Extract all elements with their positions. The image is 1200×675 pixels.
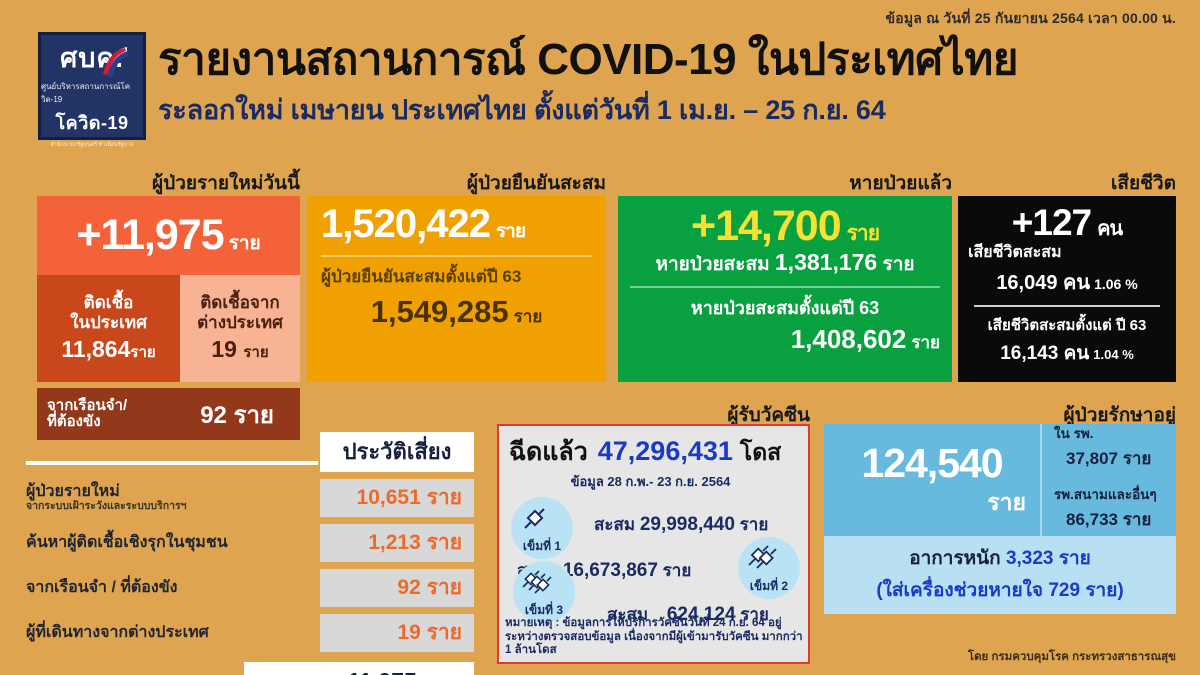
prison-label-1: จากเรือนจำ/ xyxy=(47,397,127,414)
thai-flag-icon xyxy=(103,47,129,77)
field-hospital-value: 86,733 ราย xyxy=(1066,506,1176,533)
logo-line-2: ศูนย์บริหารสถานการณ์โควิด-19 xyxy=(41,80,143,106)
vaccine-note: หมายเหตุ : ข้อมูลการให้บริการวัคซีนวันที… xyxy=(505,617,803,658)
active-cases-breakdown: ใน รพ. 37,807 ราย รพ.สนามและอื่นๆ 86,733… xyxy=(1042,424,1176,536)
table-row: ค้นหาผู้ติดเชื้อเชิงรุกในชุมชน 1,213 ราย xyxy=(26,524,474,562)
ventilator-text: (ใส่เครื่องช่วยหายใจ 729 ราย) xyxy=(836,575,1164,605)
new-cases-unit: ราย xyxy=(229,228,261,258)
cumulative-since-value: 1,549,285 xyxy=(371,294,509,329)
card-cumulative-cases: 1,520,422ราย ผู้ป่วยยืนยันสะสมตั้งแต่ปี … xyxy=(307,196,606,382)
recovered-unit: ราย xyxy=(847,222,879,245)
vaccine-total-row: ฉีดแล้ว 47,296,431 โดส xyxy=(499,426,808,472)
syringe-3-icon xyxy=(521,567,561,595)
domestic-label-2: ในประเทศ xyxy=(70,313,147,332)
severe-cases-box: อาการหนัก 3,323 ราย (ใส่เครื่องช่วยหายใจ… xyxy=(824,536,1176,614)
vaccine-dose-1-chip: เข็มที่ 1 xyxy=(511,497,573,559)
table-row: จากเรือนจำ / ที่ต้องขัง 92 ราย xyxy=(26,569,474,607)
vaccine-dose-2-label: เข็มที่ 2 xyxy=(750,577,788,596)
deaths-since-pct: 1.04 % xyxy=(1093,347,1133,362)
cumulative-value: 1,520,422 xyxy=(321,202,490,246)
in-hospital-label: ใน รพ. xyxy=(1054,422,1176,444)
logo-line-4: สำนักนายกรัฐมนตรี ทำเนียบรัฐบาล xyxy=(50,141,133,149)
active-cases-total: 124,540 ราย xyxy=(824,424,1042,536)
risk-row-sublabel: จากระบบเฝ้าระวังและระบบบริการฯ xyxy=(26,501,310,513)
vaccine-dose-2-value: 16,673,867 xyxy=(563,560,658,581)
vaccine-dose-1-value: 29,998,440 xyxy=(640,514,735,535)
vaccine-injected-label: ฉีดแล้ว xyxy=(509,432,588,472)
vaccine-dose-2-chip: เข็มที่ 2 xyxy=(738,537,800,599)
deaths-value: +127 xyxy=(1012,202,1091,243)
recovered-since-unit: ราย xyxy=(911,333,940,352)
vaccine-dose-3-chip: เข็มที่ 3 xyxy=(513,561,575,623)
severe-value: 3,323 ราย xyxy=(1006,548,1091,569)
vaccine-panel: ฉีดแล้ว 47,296,431 โดส ข้อมูล 28 ก.พ.- 2… xyxy=(497,424,810,664)
prison-value: 92 ราย xyxy=(200,395,274,434)
divider xyxy=(321,255,592,257)
vaccine-dose-2-unit: ราย xyxy=(663,561,692,580)
table-row: ผู้ที่เดินทางจากต่างประเทศ 19 ราย xyxy=(26,614,474,652)
risk-history-table: ประวัติเสี่ยง ผู้ป่วยรายใหม่ จากระบบเฝ้า… xyxy=(26,432,474,675)
vaccine-dose-list: เข็มที่ 1 สะสม 29,998,440 ราย xyxy=(499,495,808,628)
caption-deaths: เสียชีวิต xyxy=(958,168,1176,198)
deaths-since-label: เสียชีวิตสะสมตั้งแต่ ปี 63 xyxy=(968,313,1166,337)
recovered-cum-value: 1,381,176 xyxy=(775,249,877,275)
recovered-value: +14,700 xyxy=(691,202,841,250)
risk-history-total-row: รวม 11,975 ราย xyxy=(26,662,474,675)
vaccine-dose-1-row: สะสม 29,998,440 ราย xyxy=(594,511,768,538)
deaths-cum-value: 16,049 คน xyxy=(996,272,1090,294)
vaccine-dose-1-label: เข็มที่ 1 xyxy=(523,537,561,556)
data-timestamp: ข้อมูล ณ วันที่ 25 กันยายน 2564 เวลา 00.… xyxy=(885,8,1176,30)
vaccine-dose-1-unit: ราย xyxy=(740,515,769,534)
vaccine-injected-unit: โดส xyxy=(740,435,781,471)
active-cases-unit: ราย xyxy=(987,485,1026,521)
divider xyxy=(974,305,1160,307)
domestic-label-1: ติดเชื้อ xyxy=(84,293,134,312)
sbc-logo: ศบค. ศูนย์บริหารสถานการณ์โควิด-19 โควิด-… xyxy=(38,32,146,140)
domestic-cases: ติดเชื้อ ในประเทศ 11,864ราย xyxy=(37,275,180,382)
cumulative-since-unit: ราย xyxy=(514,307,543,326)
table-row: ผู้ป่วยรายใหม่ จากระบบเฝ้าระวังและระบบบร… xyxy=(26,479,474,517)
logo-line-3: โควิด-19 xyxy=(55,108,128,137)
risk-row-value: 10,651 ราย xyxy=(320,479,474,517)
syringe-2-icon xyxy=(746,543,780,571)
active-cases-panel: 124,540 ราย ใน รพ. 37,807 ราย รพ.สนามและ… xyxy=(824,424,1176,614)
field-hospital-label: รพ.สนามและอื่นๆ xyxy=(1054,483,1176,505)
deaths-since-value: 16,143 คน xyxy=(1000,343,1089,364)
risk-row-value: 92 ราย xyxy=(320,569,474,607)
risk-row-label: ผู้ป่วยรายใหม่ xyxy=(26,483,310,501)
deaths-unit: คน xyxy=(1097,218,1122,240)
new-cases-hero: +11,975 ราย xyxy=(37,196,300,275)
imported-unit: ราย xyxy=(243,344,268,361)
title-block: รายงานสถานการณ์ COVID-19 ในประเทศไทย ระล… xyxy=(158,36,1180,131)
risk-history-header-row: ประวัติเสี่ยง xyxy=(26,432,474,472)
cumulative-since-label: ผู้ป่วยยืนยันสะสมตั้งแต่ปี 63 xyxy=(321,263,592,290)
recovered-cum-label: หายป่วยสะสม xyxy=(655,254,769,275)
imported-label-1: ติดเชื้อจาก xyxy=(200,293,279,312)
credit-line: โดย กรมควบคุมโรค กระทรวงสาธารณสุข xyxy=(968,648,1176,666)
new-cases-breakdown: ติดเชื้อ ในประเทศ 11,864ราย ติดเชื้อจาก … xyxy=(37,275,300,382)
vaccine-dose-1-prefix: สะสม xyxy=(594,515,635,534)
risk-row-value: 19 ราย xyxy=(320,614,474,652)
domestic-value: 11,864 xyxy=(61,336,130,362)
domestic-unit: ราย xyxy=(130,344,155,361)
imported-value: 19 xyxy=(211,336,237,362)
card-new-cases: +11,975 ราย ติดเชื้อ ในประเทศ 11,864ราย … xyxy=(37,196,300,382)
divider xyxy=(630,286,940,288)
risk-row-label: ผู้ที่เดินทางจากต่างประเทศ xyxy=(26,624,310,642)
caption-new-cases: ผู้ป่วยรายใหม่วันนี้ xyxy=(37,168,300,198)
page-title: รายงานสถานการณ์ COVID-19 ในประเทศไทย xyxy=(158,36,1180,84)
severe-label: อาการหนัก xyxy=(909,548,1000,569)
caption-recovered: หายป่วยแล้ว xyxy=(618,168,952,198)
in-hospital-value: 37,807 ราย xyxy=(1066,445,1176,472)
risk-history-total: รวม 11,975 ราย xyxy=(244,662,474,675)
imported-label-2: ต่างประเทศ xyxy=(197,313,283,332)
card-deaths: +127คน เสียชีวิตสะสม 16,049 คน1.06 % เสี… xyxy=(958,196,1176,382)
recovered-since-value: 1,408,602 xyxy=(791,324,907,354)
page-subtitle: ระลอกใหม่ เมษายน ประเทศไทย ตั้งแต่วันที่… xyxy=(158,88,1180,131)
vaccine-injected-value: 47,296,431 xyxy=(598,436,733,467)
card-recovered: +14,700ราย หายป่วยสะสม 1,381,176 ราย หาย… xyxy=(618,196,952,382)
active-cases-top: 124,540 ราย ใน รพ. 37,807 ราย รพ.สนามและ… xyxy=(824,424,1176,536)
imported-cases: ติดเชื้อจาก ต่างประเทศ 19 ราย xyxy=(180,275,300,382)
deaths-cum-pct: 1.06 % xyxy=(1094,276,1138,292)
risk-row-label: ค้นหาผู้ติดเชื้อเชิงรุกในชุมชน xyxy=(26,534,310,552)
syringe-1-icon xyxy=(519,503,549,533)
new-cases-value: +11,975 xyxy=(76,211,223,260)
cumulative-unit: ราย xyxy=(496,221,525,242)
recovered-cum-unit: ราย xyxy=(883,254,915,275)
infographic-page: ข้อมูล ณ วันที่ 25 กันยายน 2564 เวลา 00.… xyxy=(0,0,1200,675)
recovered-since-label: หายป่วยสะสมตั้งแต่ปี 63 xyxy=(630,293,940,322)
risk-row-value: 1,213 ราย xyxy=(320,524,474,562)
risk-row-label: จากเรือนจำ / ที่ต้องขัง xyxy=(26,579,310,597)
active-cases-value: 124,540 xyxy=(861,440,1002,487)
divider xyxy=(26,461,318,465)
vaccine-date-range: ข้อมูล 28 ก.พ.- 23 ก.ย. 2564 xyxy=(499,471,808,492)
risk-history-header: ประวัติเสี่ยง xyxy=(320,432,474,472)
prison-label-2: ที่ต้องขัง xyxy=(47,413,101,430)
caption-cumulative: ผู้ป่วยยืนยันสะสม xyxy=(307,168,606,198)
